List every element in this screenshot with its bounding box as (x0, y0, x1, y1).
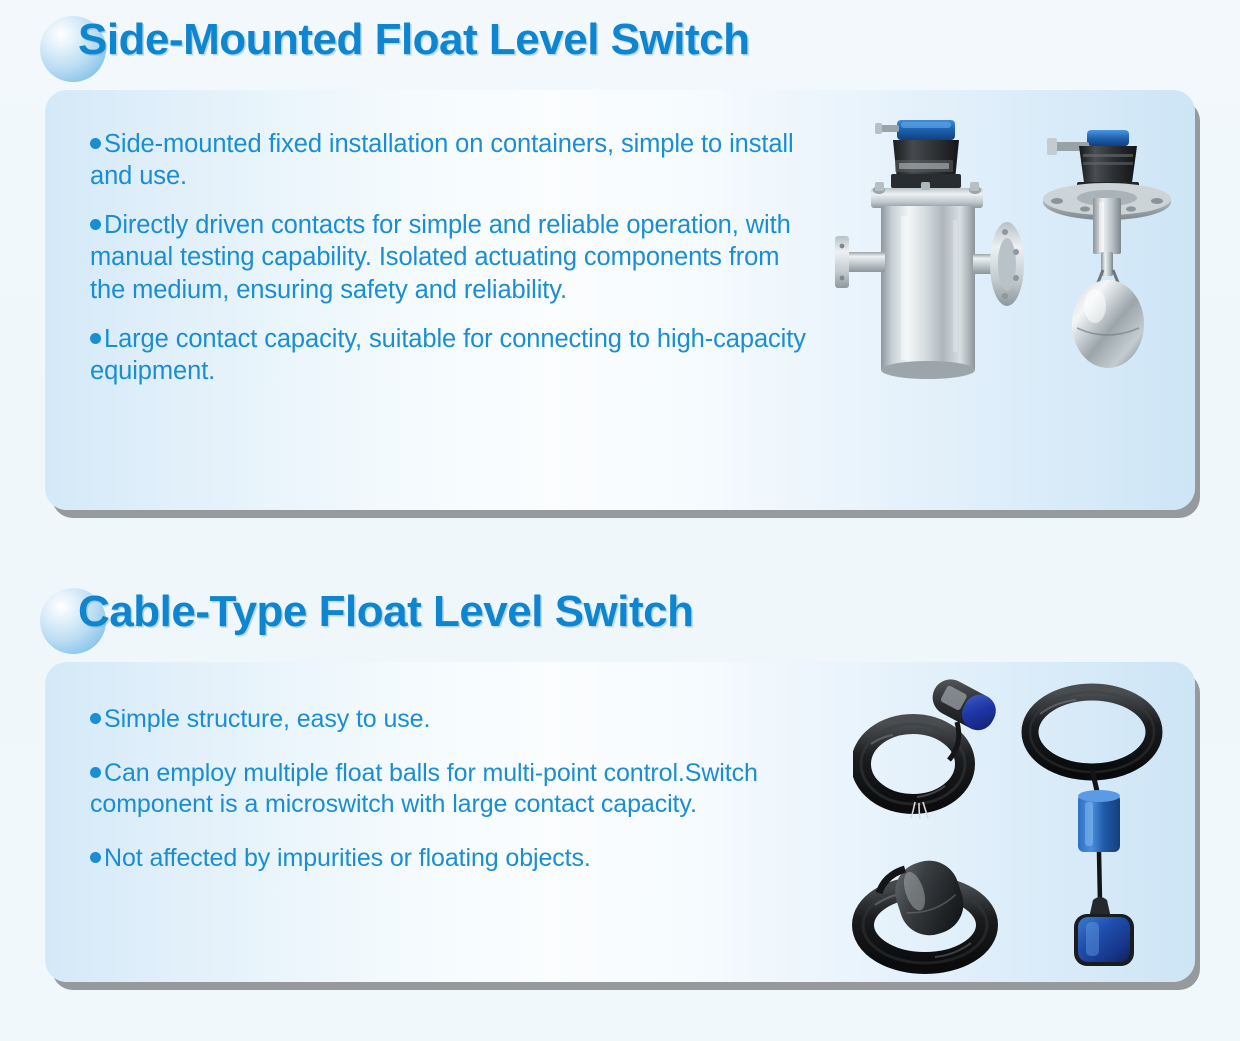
section-side-mounted: Side-Mounted Float Level Switch Side-mou… (0, 0, 1240, 510)
product-image-group-side-mounted (815, 90, 1195, 510)
list-item: Simple structure, easy to use. (90, 704, 815, 736)
heading-row-cable-type: Cable-Type Float Level Switch (0, 572, 1240, 662)
bullet-dot-icon (90, 767, 101, 778)
product-feature-page: Side-Mounted Float Level Switch Side-mou… (0, 0, 1240, 1041)
feature-card-side-mounted: Side-mounted fixed installation on conta… (45, 90, 1195, 510)
feature-list-cable-type: Simple structure, easy to use. Can emplo… (45, 662, 815, 896)
coiled-cable-float-black-image (845, 847, 1010, 977)
heading-row-side-mounted: Side-Mounted Float Level Switch (0, 0, 1240, 90)
hanging-cable-float-blue-image (1020, 670, 1195, 970)
list-item: Side-mounted fixed installation on conta… (90, 128, 815, 192)
list-item: Not affected by impurities or floating o… (90, 843, 815, 875)
card-wrap-cable-type: Simple structure, easy to use. Can emplo… (45, 662, 1195, 982)
list-item: Large contact capacity, suitable for con… (90, 323, 815, 387)
flange-mounted-float-ball-switch-image (1027, 110, 1177, 385)
list-item-label: Directly driven contacts for simple and … (90, 211, 791, 303)
bullet-dot-icon (90, 138, 101, 149)
bullet-dot-icon (90, 219, 101, 230)
product-image-group-cable-type (815, 662, 1195, 982)
page-title-side-mounted: Side-Mounted Float Level Switch (40, 0, 749, 65)
list-item-label: Side-mounted fixed installation on conta… (90, 130, 794, 190)
list-item-label: Can employ multiple float balls for mult… (90, 759, 758, 819)
side-mounted-float-switch-body-image (835, 112, 1025, 382)
list-item-label: Simple structure, easy to use. (104, 705, 430, 733)
card-wrap-side-mounted: Side-mounted fixed installation on conta… (45, 90, 1195, 510)
feature-card-cable-type: Simple structure, easy to use. Can emplo… (45, 662, 1195, 982)
list-item: Directly driven contacts for simple and … (90, 209, 815, 305)
section-cable-type: Cable-Type Float Level Switch Simple str… (0, 572, 1240, 982)
bullet-dot-icon (90, 713, 101, 724)
page-title-cable-type: Cable-Type Float Level Switch (40, 572, 694, 637)
list-item: Can employ multiple float balls for mult… (90, 758, 815, 821)
coiled-cable-float-blue-image (853, 674, 1013, 824)
bullet-dot-icon (90, 333, 101, 344)
bullet-dot-icon (90, 852, 101, 863)
feature-list-side-mounted: Side-mounted fixed installation on conta… (45, 90, 815, 387)
list-item-label: Large contact capacity, suitable for con… (90, 325, 806, 385)
list-item-label: Not affected by impurities or floating o… (104, 844, 591, 872)
